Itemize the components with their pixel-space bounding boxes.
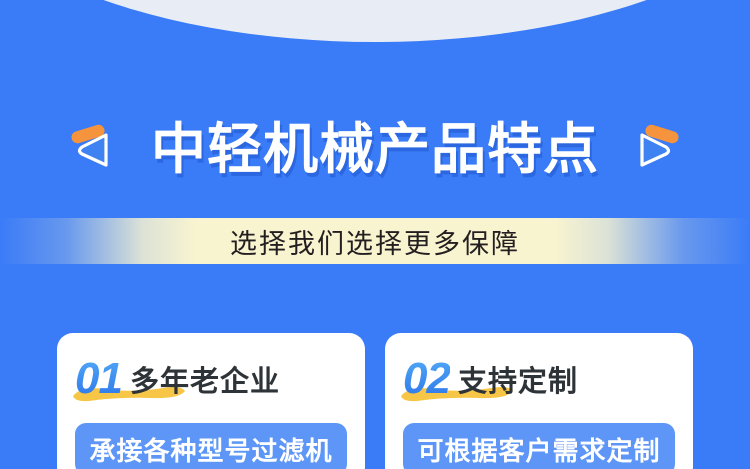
feature-card-number: 02: [403, 359, 450, 399]
feature-card-header: 01 多年老企业: [75, 353, 347, 399]
triangle-left-icon: [67, 121, 123, 177]
feature-card-pill[interactable]: 承接各种型号过滤机: [75, 423, 347, 469]
page-title: 中轻机械产品特点: [151, 122, 599, 177]
feature-card-pill-label: 承接各种型号过滤机: [89, 431, 332, 468]
heading-row: 中轻机械产品特点: [0, 108, 750, 190]
feature-card-title: 多年老企业: [130, 367, 280, 399]
triangle-right-icon: [627, 121, 683, 177]
promo-poster: 中轻机械产品特点 选择我们选择更多保障 01 多年老企业 承接各种型号过滤机: [0, 0, 750, 469]
feature-card-title: 支持定制: [458, 367, 578, 399]
feature-card-pill[interactable]: 可根据客户需求定制: [403, 423, 675, 469]
feature-card-pill-label: 可根据客户需求定制: [417, 431, 660, 468]
feature-card-number: 01: [75, 359, 122, 399]
triangle-right-shape: [633, 129, 675, 171]
feature-card-list: 01 多年老企业 承接各种型号过滤机 02 支持定制 可根据客户需求定制: [57, 333, 693, 469]
triangle-left-shape: [73, 129, 115, 171]
subtitle-band: 选择我们选择更多保障: [0, 218, 750, 264]
feature-card[interactable]: 02 支持定制 可根据客户需求定制: [385, 333, 693, 469]
feature-card-header: 02 支持定制: [403, 353, 675, 399]
top-arc-decoration: [0, 0, 750, 42]
page-subtitle: 选择我们选择更多保障: [230, 222, 520, 261]
feature-card[interactable]: 01 多年老企业 承接各种型号过滤机: [57, 333, 365, 469]
